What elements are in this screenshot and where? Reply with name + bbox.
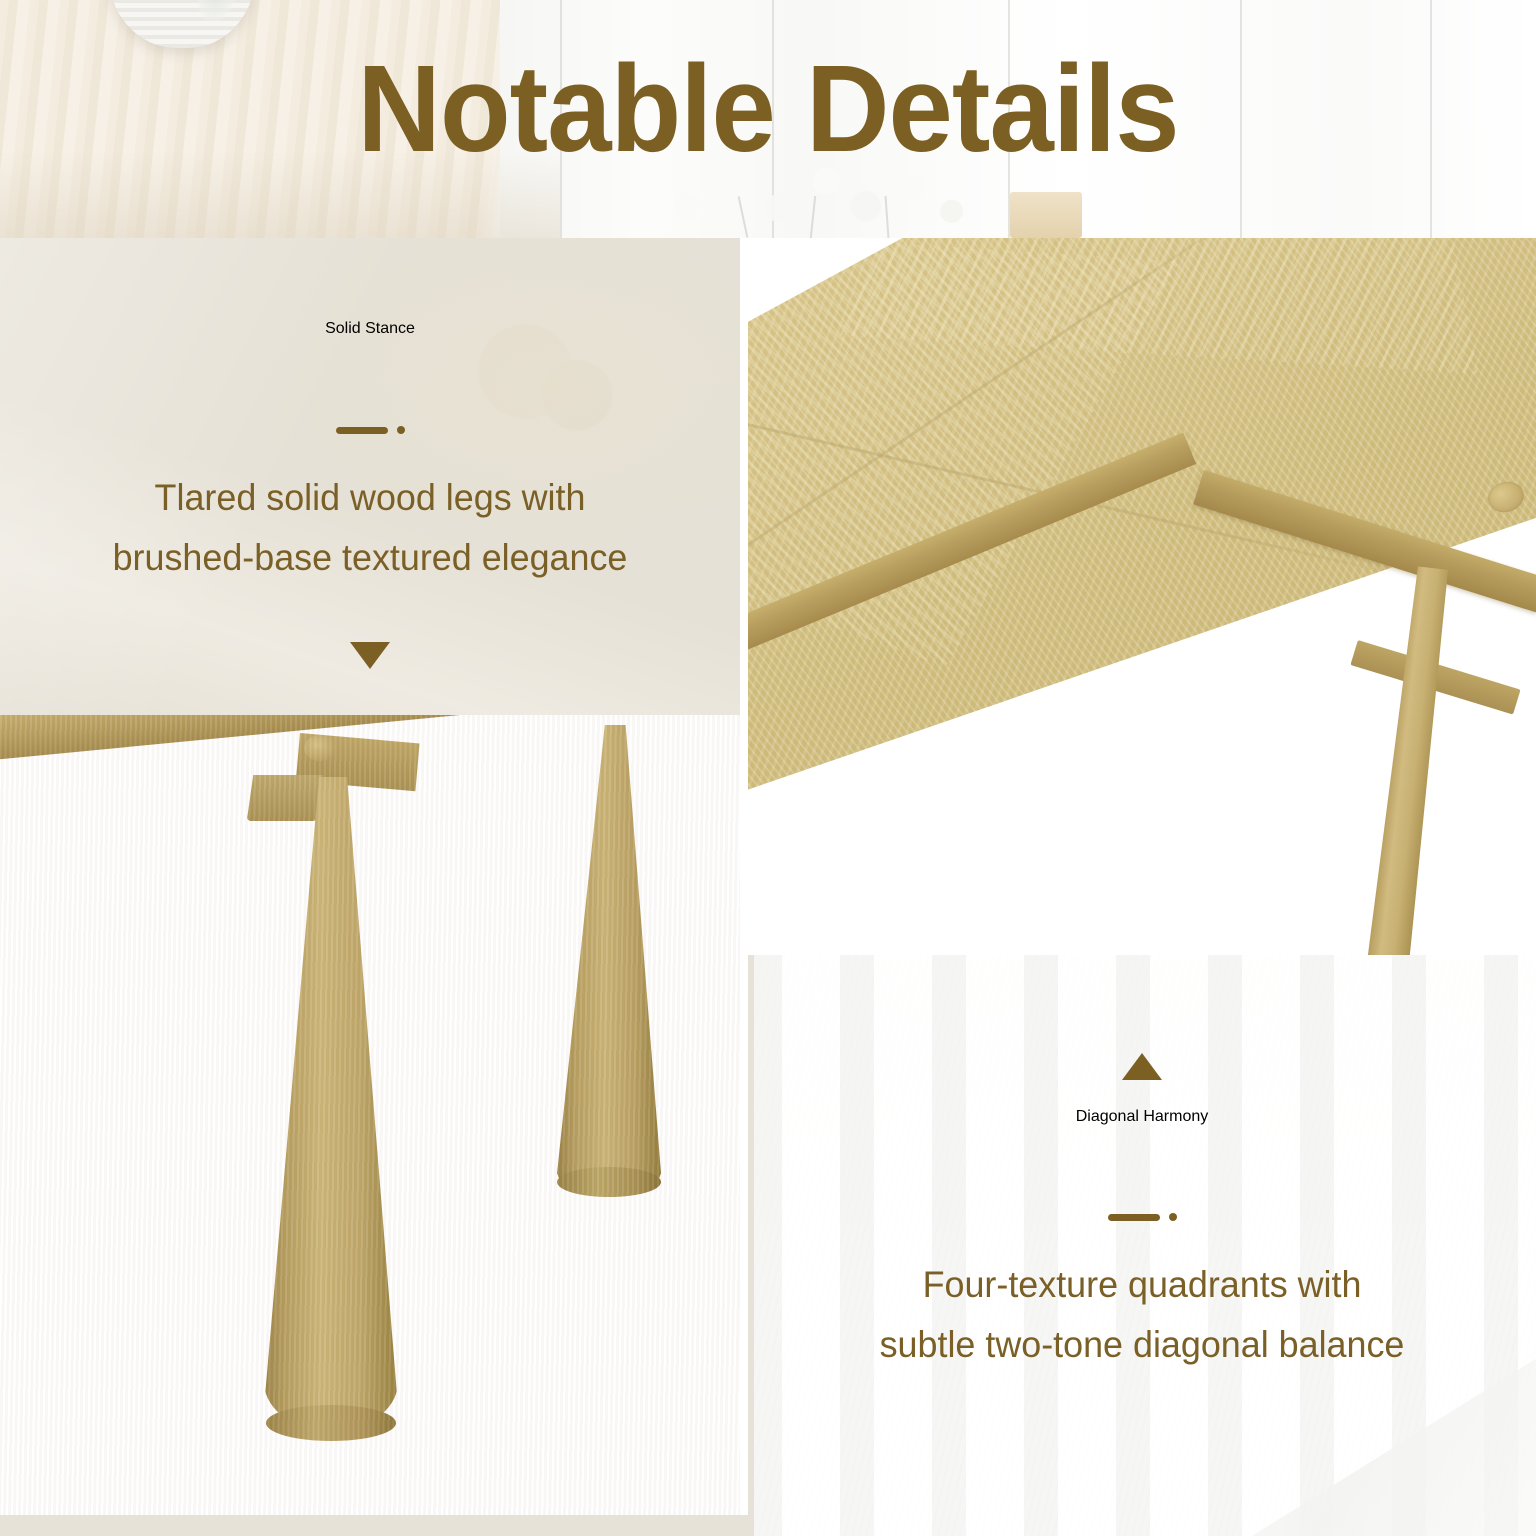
page-title: Notable Details [46,48,1490,171]
triangle-up-icon [1122,1053,1162,1080]
wood-chair-decor [1010,192,1082,238]
divider-bar-icon [1108,1214,1160,1221]
pointer-down-area [0,642,740,669]
divider-ornament [0,426,740,434]
wood-dowel-plug-icon [304,735,336,761]
card-background-texture [748,955,1536,1536]
card-body-diagonal-harmony: Four-texture quadrants with subtle two-t… [748,1255,1536,1375]
card-left-gutter [748,955,754,1536]
card-body-line: Four-texture quadrants with [760,1255,1524,1315]
divider-dot-icon [1169,1213,1177,1221]
card-solid-stance: Solid Stance Tlared solid wood legs with… [0,238,740,715]
divider-ornament [748,1213,1536,1221]
bottom-edge-strip [0,1515,748,1536]
tapered-table-leg-back [557,725,661,1187]
tapered-table-leg [1367,566,1454,960]
pointer-up-area [748,1053,1536,1080]
header-banner: Notable Details [0,0,1536,238]
tapered-table-leg-front [264,777,398,1427]
divider-bar-icon [336,427,388,434]
card-body-line: brushed-base textured elegance [11,528,729,588]
card-heading-diagonal-harmony: Diagonal Harmony [748,1108,1536,1126]
card-body-solid-stance: Tlared solid wood legs with brushed-base… [0,468,740,588]
card-heading-solid-stance: Solid Stance [0,320,740,338]
photo-tabletop-corner [748,238,1536,960]
card-body-line: Tlared solid wood legs with [11,468,729,528]
photo-table-legs [0,715,740,1515]
table-leg-foot [266,1405,396,1441]
divider-dot-icon [397,426,405,434]
table-leg-foot [557,1167,661,1197]
card-diagonal-harmony: Diagonal Harmony Four-texture quadrants … [748,955,1536,1536]
infographic-stage: Notable Details Solid Stance Tlared soli… [0,0,1536,1536]
triangle-down-icon [350,642,390,669]
leg-mount-bracket [247,775,323,821]
card-body-line: subtle two-tone diagonal balance [760,1315,1524,1375]
